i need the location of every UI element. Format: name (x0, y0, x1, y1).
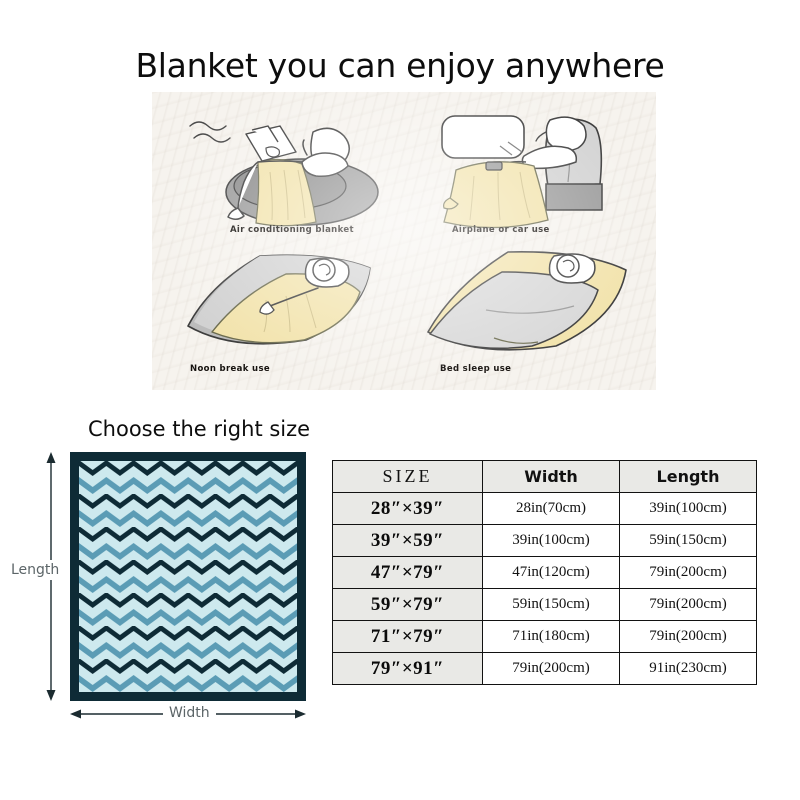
cell-length: 79in(200cm) (620, 557, 757, 589)
illustration-bed-sleep (410, 242, 650, 368)
size-section-heading: Choose the right size (88, 417, 310, 441)
header-width: Width (483, 461, 620, 493)
illustration-board: Air conditioning blanket (152, 92, 656, 390)
cell-width: 59in(150cm) (483, 589, 620, 621)
table-row: 47″×79″ 47in(120cm) 79in(200cm) (333, 557, 757, 589)
table-row: 79″×91″ 79in(200cm) 91in(230cm) (333, 653, 757, 685)
caption-airplane-car: Airplane or car use (452, 225, 550, 235)
cell-size: 28″×39″ (333, 493, 483, 525)
cell-length: 59in(150cm) (620, 525, 757, 557)
cell-width: 47in(120cm) (483, 557, 620, 589)
illustration-air-conditioning (162, 100, 402, 230)
table-row: 59″×79″ 59in(150cm) 79in(200cm) (333, 589, 757, 621)
illustration-noon-break (174, 244, 410, 366)
cell-width: 71in(180cm) (483, 621, 620, 653)
cell-size: 39″×59″ (333, 525, 483, 557)
table-header-row: SIZE Width Length (333, 461, 757, 493)
cell-size: 59″×79″ (333, 589, 483, 621)
noon-break-scene-icon (174, 244, 410, 366)
illustration-airplane-car (400, 100, 646, 230)
cell-size: 47″×79″ (333, 557, 483, 589)
length-label: Length (10, 560, 60, 580)
size-chart-table: SIZE Width Length 28″×39″ 28in(70cm) 39i… (332, 460, 757, 685)
airplane-car-scene-icon (400, 100, 646, 230)
caption-bed-sleep: Bed sleep use (440, 364, 511, 374)
cell-size: 71″×79″ (333, 621, 483, 653)
page-title: Blanket you can enjoy anywhere (0, 46, 800, 85)
header-size: SIZE (333, 461, 483, 493)
cell-length: 91in(230cm) (620, 653, 757, 685)
header-length: Length (620, 461, 757, 493)
caption-noon-break: Noon break use (190, 364, 270, 374)
caption-air-conditioning: Air conditioning blanket (230, 225, 354, 235)
cell-width: 28in(70cm) (483, 493, 620, 525)
blanket-chevron-pattern (79, 461, 297, 692)
air-conditioning-scene-icon (162, 100, 402, 230)
blanket-swatch-border (70, 452, 306, 701)
cell-width: 79in(200cm) (483, 653, 620, 685)
table-row: 71″×79″ 71in(180cm) 79in(200cm) (333, 621, 757, 653)
chevron-pattern-icon (79, 461, 297, 692)
width-label: Width (163, 705, 216, 721)
cell-length: 39in(100cm) (620, 493, 757, 525)
cell-length: 79in(200cm) (620, 621, 757, 653)
bed-sleep-scene-icon (410, 242, 650, 368)
cell-size: 79″×91″ (333, 653, 483, 685)
table-row: 39″×59″ 39in(100cm) 59in(150cm) (333, 525, 757, 557)
cell-length: 79in(200cm) (620, 589, 757, 621)
blanket-swatch-diagram (70, 452, 306, 701)
table-row: 28″×39″ 28in(70cm) 39in(100cm) (333, 493, 757, 525)
cell-width: 39in(100cm) (483, 525, 620, 557)
